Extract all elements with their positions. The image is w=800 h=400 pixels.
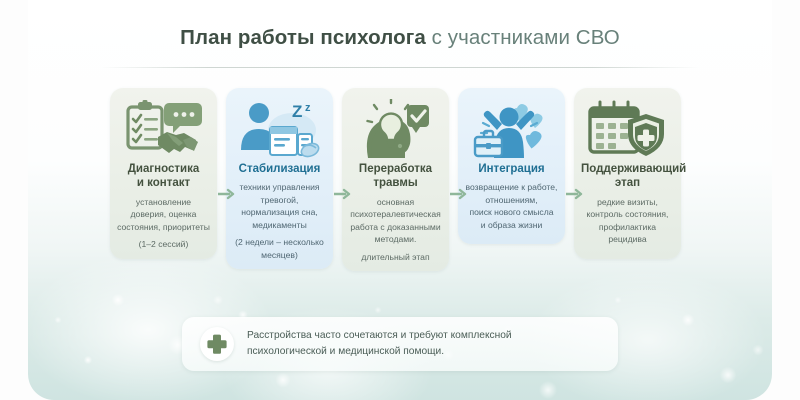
arrow-2 xyxy=(334,188,352,200)
summary-line-1: Расстройства часто сочетаются и требуют … xyxy=(247,328,512,344)
arrow-1 xyxy=(218,188,236,200)
title-strong: План работы психолога xyxy=(180,26,426,49)
stage-card-5-title: Поддерживающийэтап xyxy=(581,162,674,191)
stage-card-5[interactable]: Поддерживающийэтап редкие визиты,контрол… xyxy=(574,88,681,259)
page-title: План работы психолога с участниками СВО xyxy=(0,26,800,50)
stage-card-4[interactable]: Интеграция возвращение к работе,отношени… xyxy=(458,88,565,244)
stage-card-1-note: (1–2 сессий) xyxy=(114,238,213,250)
stage-card-5-desc: редкие визиты,контроль состояния,профила… xyxy=(578,196,677,246)
calendar-shield-plus-icon xyxy=(578,98,677,160)
stage-card-1-title: Диагностикаи контакт xyxy=(117,162,210,191)
stage-card-3-title: Переработкатравмы xyxy=(349,162,442,191)
title-divider xyxy=(100,67,700,68)
person-sleep-medication-icon: Z z xyxy=(230,98,329,160)
arrow-4 xyxy=(566,188,584,200)
arrow-3 xyxy=(450,188,468,200)
svg-text:Z: Z xyxy=(292,102,302,121)
medical-cross-icon xyxy=(200,327,234,361)
summary-line-2: психологической и медицинской помощи. xyxy=(247,344,512,360)
stage-card-2-note: (2 недели – несколькомесяцев) xyxy=(230,236,329,261)
clipboard-handshake-icon xyxy=(114,98,213,160)
infographic-stage: План работы психолога с участниками СВО xyxy=(0,0,800,400)
stage-card-3-desc: основнаяпсихотералевтическаяработа с док… xyxy=(346,196,445,246)
stage-card-2-desc: техники управлениятревогой,нормализация … xyxy=(230,181,329,231)
stage-card-3-note: длительный этап xyxy=(346,251,445,263)
svg-text:z: z xyxy=(305,102,311,114)
stage-card-1[interactable]: Диагностикаи контакт установлениедоверия… xyxy=(110,88,217,259)
stage-card-4-title: Интеграция xyxy=(465,162,558,176)
stage-card-4-desc: возвращение к работе,отношениям,поиск но… xyxy=(462,181,561,231)
stage-cards-row: Диагностикаи контакт установлениедоверия… xyxy=(0,88,800,298)
stage-card-3[interactable]: Переработкатравмы основнаяпсихотералевти… xyxy=(342,88,449,271)
stage-card-1-desc: установлениедоверия, оценкасостояния, пр… xyxy=(114,196,213,233)
summary-banner: Расстройства часто сочетаются и требуют … xyxy=(182,317,618,371)
stage-card-2-title: Стабилизация xyxy=(233,162,326,176)
title-light: с участниками СВО xyxy=(426,26,620,49)
person-hearts-briefcase-icon xyxy=(462,98,561,160)
head-lightbulb-check-icon xyxy=(346,98,445,160)
stage-card-2[interactable]: Z z Стабилизация техники управлениятрево… xyxy=(226,88,333,269)
summary-banner-text: Расстройства часто сочетаются и требуют … xyxy=(247,328,512,360)
